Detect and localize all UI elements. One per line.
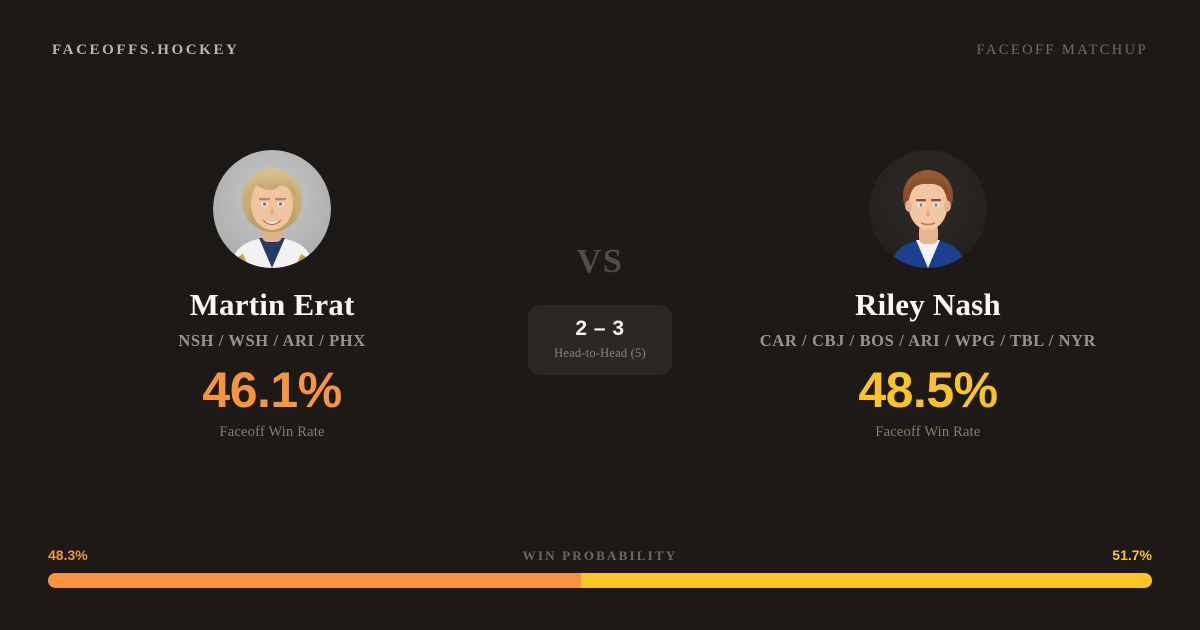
player-teams-right: CAR / CBJ / BOS / ARI / WPG / TBL / NYR	[760, 331, 1096, 351]
vs-label: VS	[577, 245, 623, 279]
matchup-row: Martin Erat NSH / WSH / ARI / PHX 46.1% …	[0, 150, 1200, 480]
win-probability-bar-right-segment	[581, 573, 1152, 588]
faceoff-win-rate-label-right: Faceoff Win Rate	[875, 424, 980, 441]
faceoff-win-rate-left: 46.1%	[202, 365, 341, 415]
head-to-head-card[interactable]: 2 – 3 Head-to-Head (5)	[528, 305, 672, 375]
player-card-left[interactable]: Martin Erat NSH / WSH / ARI / PHX 46.1% …	[42, 150, 502, 441]
head-to-head-label: Head-to-Head (5)	[554, 347, 646, 360]
player-name-left: Martin Erat	[190, 288, 355, 322]
matchup-page: FACEOFFS.HOCKEY FACEOFF MATCHUP	[0, 0, 1200, 630]
player-name-right: Riley Nash	[855, 288, 1001, 322]
player-card-right[interactable]: Riley Nash CAR / CBJ / BOS / ARI / WPG /…	[698, 150, 1158, 441]
win-probability-section: 48.3% WIN PROBABILITY 51.7%	[48, 547, 1152, 588]
avatar-left	[213, 150, 331, 268]
win-probability-labels: 48.3% WIN PROBABILITY 51.7%	[48, 547, 1152, 564]
faceoff-win-rate-label-left: Faceoff Win Rate	[219, 424, 324, 441]
faceoff-win-rate-right: 48.5%	[858, 365, 997, 415]
win-probability-title: WIN PROBABILITY	[523, 548, 678, 564]
player-teams-left: NSH / WSH / ARI / PHX	[178, 331, 365, 351]
versus-block: VS 2 – 3 Head-to-Head (5)	[502, 150, 698, 375]
site-brand: FACEOFFS.HOCKEY	[52, 42, 239, 59]
win-probability-bar[interactable]	[48, 573, 1152, 588]
header-subtitle: FACEOFF MATCHUP	[976, 42, 1148, 59]
avatar-right	[869, 150, 987, 268]
head-to-head-score: 2 – 3	[575, 318, 624, 339]
page-header: FACEOFFS.HOCKEY FACEOFF MATCHUP	[0, 0, 1200, 100]
win-probability-left-value: 48.3%	[48, 547, 88, 563]
win-probability-right-value: 51.7%	[1112, 547, 1152, 563]
win-probability-bar-left-segment	[48, 573, 581, 588]
